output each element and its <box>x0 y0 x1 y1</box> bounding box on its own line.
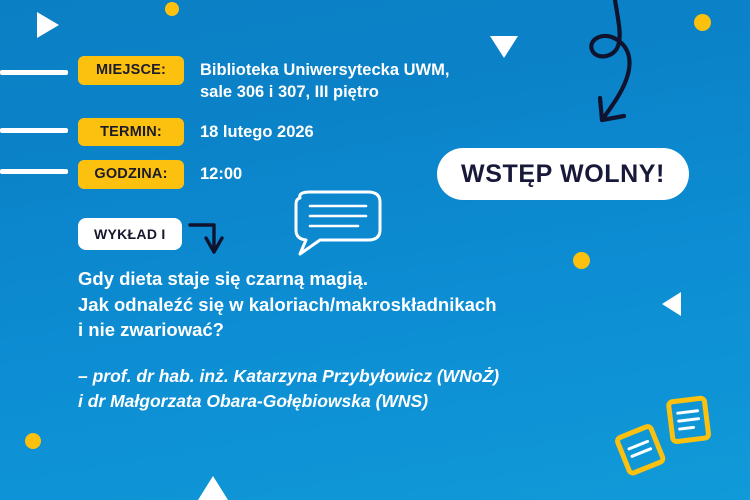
yellow-dot-icon <box>25 433 41 449</box>
note-card-icon <box>607 421 673 483</box>
triangle-down-icon <box>490 36 518 58</box>
value-date: 18 lutego 2026 <box>200 118 314 144</box>
value-time: 12:00 <box>200 160 242 186</box>
poster-canvas: MIEJSCE: Biblioteka Uniwersytecka UWM, s… <box>0 0 750 500</box>
tick-line <box>0 128 68 133</box>
triangle-right-icon <box>37 12 59 38</box>
elbow-arrow-icon <box>188 220 234 256</box>
label-badge-date: TERMIN: <box>78 118 184 147</box>
yellow-dot-icon <box>694 14 711 31</box>
label-badge-venue: MIEJSCE: <box>78 56 184 85</box>
yellow-dot-icon <box>165 2 179 16</box>
tick-line <box>0 169 68 174</box>
admission-pill: WSTĘP WOLNY! <box>437 148 689 200</box>
triangle-up-icon <box>198 476 228 500</box>
value-venue: Biblioteka Uniwersytecka UWM, sale 306 i… <box>200 56 449 104</box>
info-row-venue: MIEJSCE: Biblioteka Uniwersytecka UWM, s… <box>78 56 678 104</box>
label-badge-time: GODZINA: <box>78 160 184 189</box>
lecture-authors: – prof. dr hab. inż. Katarzyna Przybyłow… <box>78 364 678 415</box>
tick-line <box>0 70 68 75</box>
info-row-date: TERMIN: 18 lutego 2026 <box>78 118 678 147</box>
lecture-number-badge: WYKŁAD I <box>78 218 182 250</box>
lecture-title: Gdy dieta staje się czarną magią. Jak od… <box>78 266 678 343</box>
